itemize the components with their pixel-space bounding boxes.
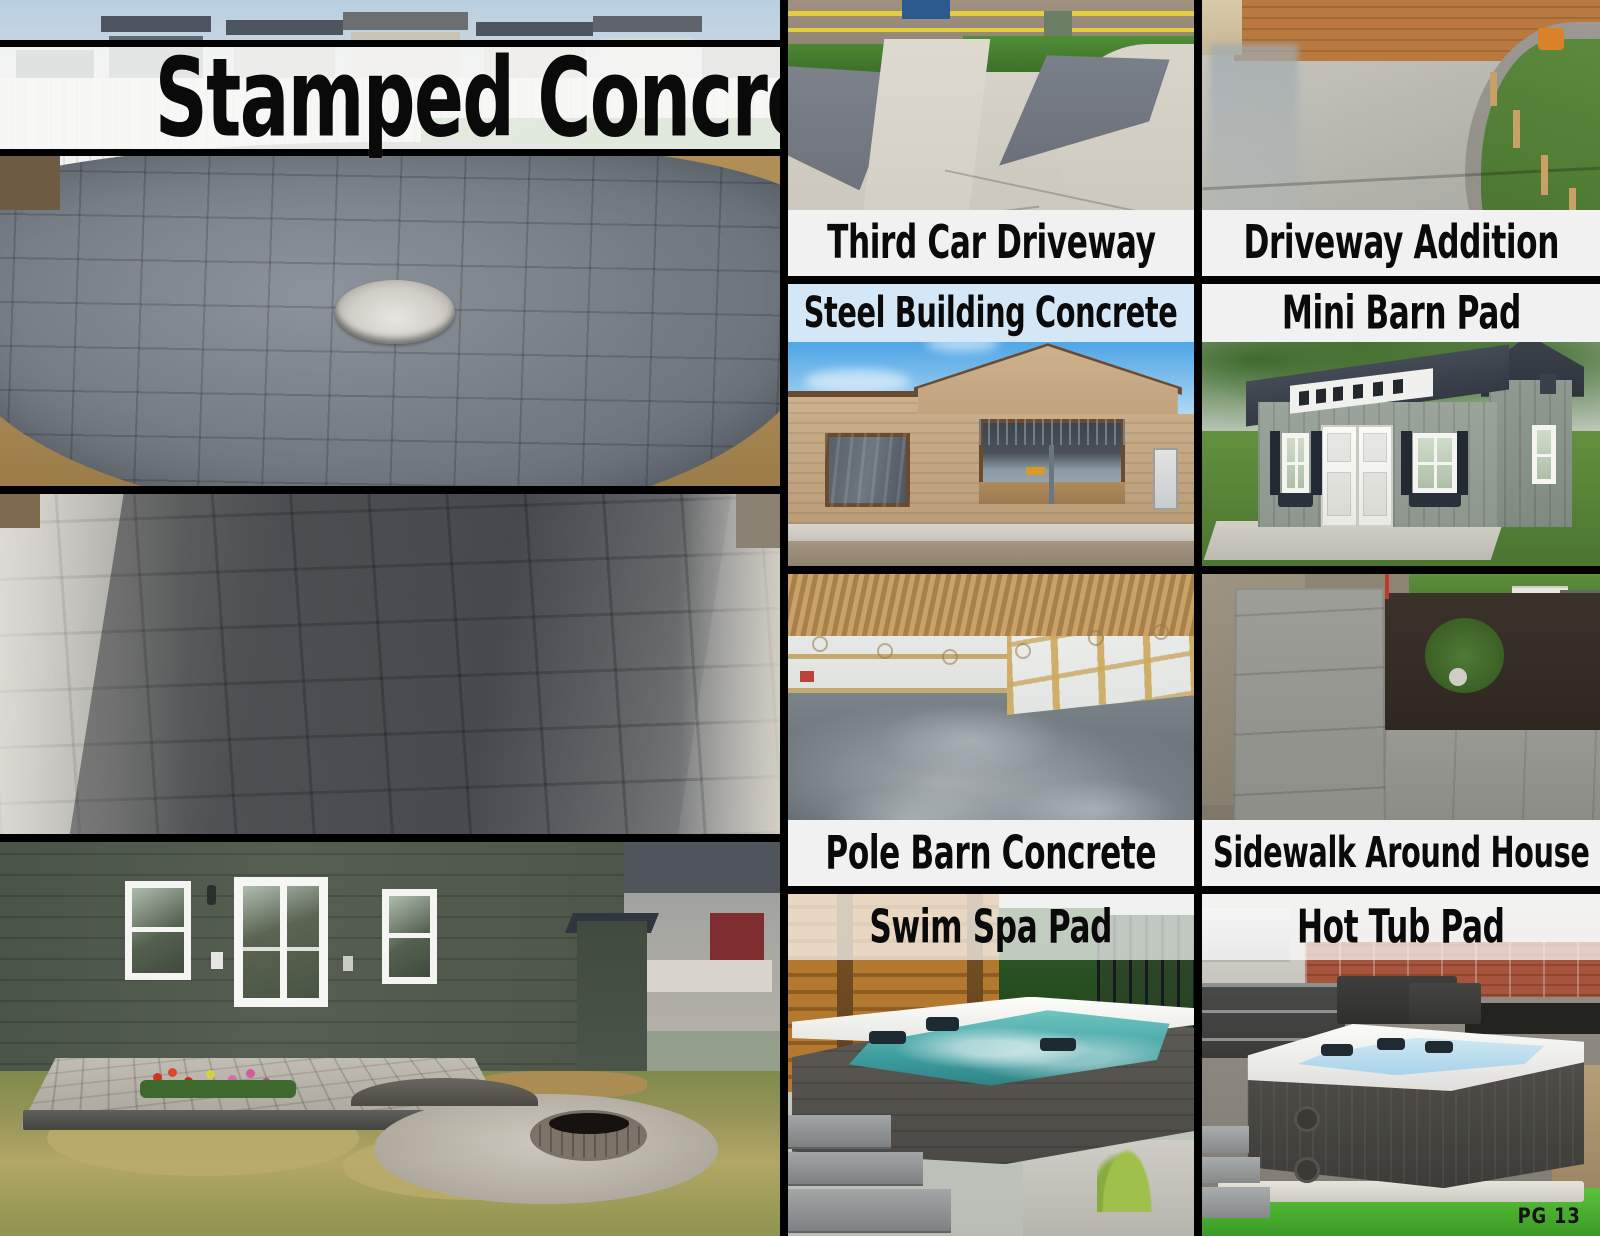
roof [343, 12, 468, 30]
shed-side-wall [1489, 380, 1573, 527]
outlet [343, 956, 353, 971]
window-bar [1537, 454, 1551, 457]
headrest [1377, 1038, 1405, 1050]
bay-trusses [979, 419, 1125, 444]
label-sidewalk-around-house: Sidewalk Around House [1213, 829, 1589, 877]
right-cell-pole-barn: Pole Barn Concrete [788, 574, 1194, 886]
man-door [1153, 448, 1177, 510]
window-shutter [1457, 431, 1468, 496]
label-pole-barn-concrete: Pole Barn Concrete [826, 826, 1157, 879]
trowel-swirl [877, 705, 1064, 775]
flower [246, 1069, 255, 1078]
label-third-car-driveway: Third Car Driveway [827, 216, 1156, 269]
deck-post [0, 150, 60, 210]
photo-house-patio [0, 842, 780, 1236]
window-shutter [1401, 431, 1412, 496]
form-stake [1541, 155, 1548, 195]
photo-stamped-slab [0, 494, 780, 834]
marker-flag [1385, 574, 1389, 599]
roof [476, 22, 593, 36]
stone-fire-pit [530, 1110, 647, 1161]
tractor [1026, 467, 1045, 475]
equipment [800, 671, 814, 682]
page-number: PG 13 [1517, 1204, 1580, 1228]
gable-vent [1540, 374, 1556, 394]
label-steel-building-concrete: Steel Building Concrete [804, 289, 1178, 337]
roof [101, 16, 210, 32]
fire-pit-cutout [335, 280, 455, 344]
utility-cap [1449, 668, 1467, 686]
roof [226, 20, 343, 35]
foliage [140, 1080, 296, 1098]
dormer-window [1353, 384, 1363, 400]
shed-window-left [1282, 433, 1310, 492]
right-cell-hot-tub: Hot Tub Pad PG 13 [1202, 894, 1600, 1236]
stone-border [1218, 1181, 1584, 1202]
right-cell-third-car-driveway: Third Car Driveway [788, 0, 1194, 276]
concrete-pad [788, 521, 1194, 541]
label-band-swim-spa: Swim Spa Pad [788, 894, 1194, 960]
side-bay-opening [825, 433, 910, 506]
headrest [1040, 1038, 1077, 1052]
right-cell-swim-spa: Swim Spa Pad [788, 894, 1194, 1236]
step [788, 1189, 951, 1231]
door-panel [1327, 472, 1351, 517]
left-photo-stamped-patio: Stamped Concrete [0, 0, 780, 486]
bay-ground-view [979, 482, 1125, 504]
poster-title-band: Stamped Concrete [0, 40, 780, 156]
door-panel [1363, 433, 1387, 461]
concrete-pad [1204, 521, 1503, 560]
step [1202, 1157, 1260, 1184]
step [788, 1152, 923, 1184]
house-bump-out [577, 921, 647, 1094]
window-shutter [1270, 431, 1280, 496]
label-swim-spa-pad: Swim Spa Pad [870, 900, 1113, 953]
barn-double-doors [1321, 425, 1393, 527]
access-panel-knob [1294, 1106, 1320, 1132]
dormer-window [1298, 390, 1308, 406]
door-panel [1363, 472, 1387, 517]
main-bay-opening [979, 419, 1125, 504]
flower [168, 1068, 177, 1077]
dumpster [902, 0, 951, 19]
ornamental-grass [1097, 1137, 1158, 1212]
door-mullion [243, 947, 319, 951]
insulation-logo [877, 643, 893, 659]
window-shutter [1311, 431, 1321, 496]
shed-side-window [1532, 425, 1556, 484]
shed-window-right [1413, 433, 1457, 492]
label-band-sidewalk: Sidewalk Around House [1202, 820, 1600, 886]
insulation-logo [1015, 643, 1031, 659]
step [1202, 1126, 1249, 1153]
window-planter [1409, 493, 1461, 507]
step [1202, 1187, 1270, 1218]
flower [206, 1070, 215, 1079]
dark-cover-band [1465, 1003, 1600, 1034]
neighbor-porch [640, 960, 773, 992]
wood-truss-ceiling [788, 574, 1194, 636]
form-stake [1490, 72, 1497, 106]
label-driveway-addition: Driveway Addition [1243, 216, 1559, 269]
outlet [211, 952, 223, 969]
window-planter [1278, 493, 1314, 507]
label-band-driveway-addition: Driveway Addition [1202, 210, 1600, 276]
dormer-window [1393, 379, 1403, 395]
window-left [125, 881, 191, 980]
sliding-glass-door [234, 877, 328, 1007]
cloud [804, 369, 910, 394]
window-right [382, 889, 437, 984]
wall-light [207, 885, 216, 905]
wood-post [0, 494, 40, 528]
label-hot-tub-pad: Hot Tub Pad [1297, 900, 1505, 953]
label-mini-barn-pad: Mini Barn Pad [1281, 286, 1520, 339]
label-band-mini-barn: Mini Barn Pad [1202, 284, 1600, 342]
shadow-area [59, 494, 737, 834]
headrest [1425, 1041, 1453, 1053]
roof [593, 16, 702, 32]
right-cell-steel-building: Steel Building Concrete [788, 284, 1194, 566]
left-photo-slab-closeup [0, 494, 780, 834]
left-photo-house-patio [0, 842, 780, 1236]
spa-steps [788, 1113, 959, 1236]
window-bar [1295, 438, 1298, 487]
flower-bed [140, 1063, 296, 1098]
window-bar [1434, 438, 1437, 487]
right-cell-sidewalk: Sidewalk Around House [1202, 574, 1600, 886]
access-panel-knob [1294, 1157, 1320, 1183]
spa-cover-box [1409, 983, 1481, 1024]
label-band-steel-building: Steel Building Concrete [788, 284, 1194, 342]
spa-steps [1202, 1120, 1270, 1223]
form-stake [1513, 110, 1520, 148]
deck-edge [1202, 1010, 1345, 1013]
caution-tape [788, 28, 1194, 32]
label-band-pole-barn: Pole Barn Concrete [788, 820, 1194, 886]
dirt-ground [788, 538, 1194, 566]
poster-page: Stamped Concrete [0, 0, 1600, 1236]
dormer-window [1315, 388, 1325, 404]
sidewalk-walkway [1233, 588, 1386, 850]
caution-tape [788, 11, 1194, 16]
door-panel [1327, 433, 1351, 461]
dormer-window [1333, 386, 1343, 402]
headrest [869, 1031, 906, 1045]
dormer-window [1373, 381, 1383, 397]
step [788, 1115, 891, 1147]
orange-bucket [1538, 28, 1564, 50]
right-cell-mini-barn: Mini Barn Pad [1202, 284, 1600, 566]
edge-detail [736, 494, 780, 548]
label-band-hot-tub: Hot Tub Pad [1202, 894, 1600, 960]
right-cell-driveway-addition: Driveway Addition [1202, 0, 1600, 276]
poster-title: Stamped Concrete [155, 35, 780, 161]
headrest [926, 1017, 958, 1031]
headrest [1321, 1044, 1353, 1056]
label-band-third-car-driveway: Third Car Driveway [788, 210, 1194, 276]
neighbor-roof [616, 842, 780, 893]
deck-edge [1202, 983, 1345, 987]
